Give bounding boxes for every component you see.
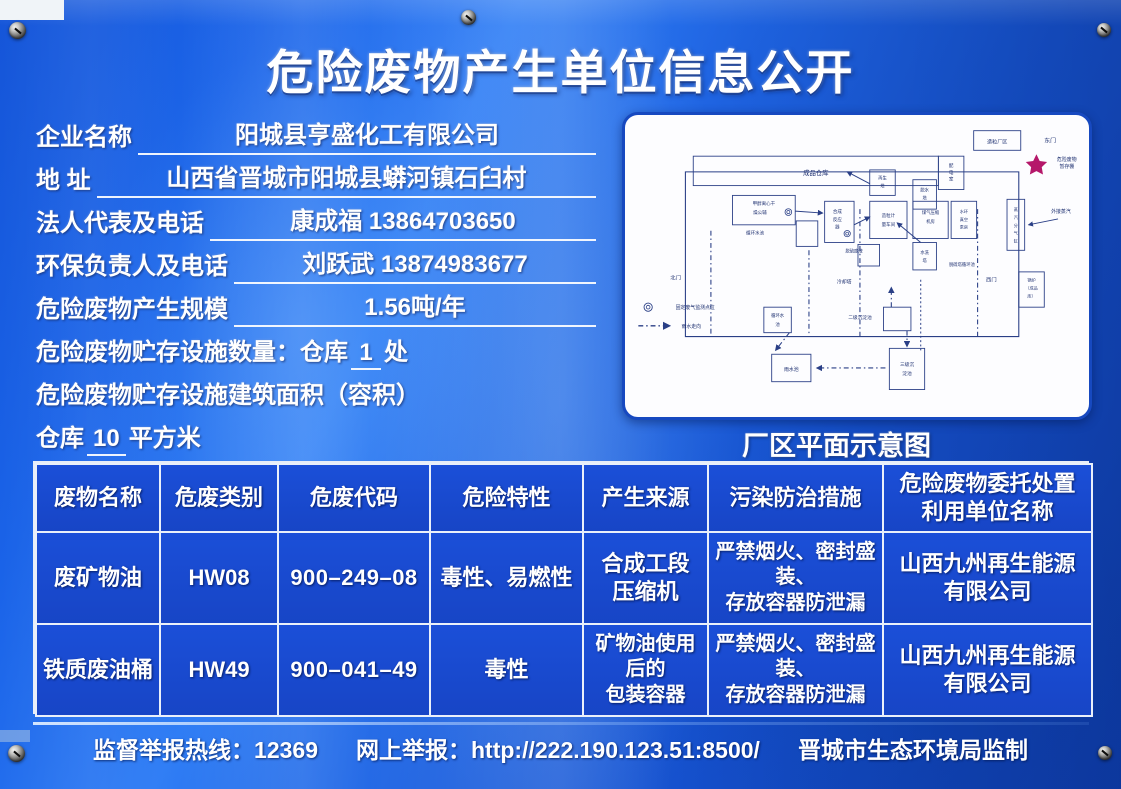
svg-text:固定废气监测点位: 固定废气监测点位	[676, 304, 715, 311]
info-value-company-name: 阳城县亨盛化工有限公司	[138, 115, 596, 155]
cell-control-line2: 存放容器防泄漏	[712, 683, 879, 709]
info-unit-storage-count: 处	[384, 332, 408, 370]
information-board: 危险废物产生单位信息公开 企业名称 阳城县亨盛化工有限公司 地 址 山西省晋城市…	[0, 0, 1121, 789]
cell-disposal-unit: 山西九州再生能源 有限公司	[883, 624, 1092, 716]
column-header-source: 产生来源	[583, 464, 708, 532]
svg-text:量车间: 量车间	[882, 221, 896, 228]
cell-waste-name: 废矿物油	[36, 532, 160, 624]
svg-text:器: 器	[835, 225, 840, 231]
svg-text:成品仓库: 成品仓库	[803, 168, 829, 177]
svg-text:煤气压缩: 煤气压缩	[922, 209, 940, 216]
info-label-legal-rep: 法人代表及电话	[36, 203, 204, 241]
cell-waste-category: HW08	[160, 532, 278, 624]
footer-online-report: 网上举报：http://222.190.123.51:8500/	[356, 731, 760, 765]
svg-text:循环水池: 循环水池	[746, 230, 764, 237]
mounting-screw-top-right	[1097, 23, 1111, 37]
table-row: 废矿物油 HW08 900–249–08 毒性、易燃性 合成工段 压缩机 严禁烟…	[36, 532, 1092, 624]
svg-text:电: 电	[949, 169, 954, 175]
info-value-address: 山西省晋城市阳城县蟒河镇石臼村	[97, 158, 596, 198]
svg-text:缸: 缸	[1014, 237, 1018, 243]
column-header-disposal-unit-line2: 利用单位名称	[887, 498, 1088, 526]
board-left-edge-strip	[0, 730, 30, 742]
svg-text:暂存棚: 暂存棚	[1059, 163, 1074, 170]
svg-text:汽: 汽	[1014, 214, 1018, 220]
cell-disposal-line2: 有限公司	[887, 670, 1088, 698]
column-header-hazard-property: 危险特性	[430, 464, 583, 532]
cell-waste-code: 900–249–08	[278, 532, 430, 624]
svg-text:循环水: 循环水	[771, 312, 785, 319]
info-row-legal-rep: 法人代表及电话 康成福 13864703650	[36, 198, 596, 241]
hazardous-waste-table: 废物名称 危废类别 危废代码 危险特性 产生来源 污染防治措施 危险废物委托处置…	[33, 461, 1089, 714]
column-header-waste-category: 危废类别	[160, 464, 278, 532]
cell-control-line1: 严禁烟火、密封盛装、	[712, 540, 879, 591]
company-info-block: 企业名称 阳城县亨盛化工有限公司 地 址 山西省晋城市阳城县蟒河镇石臼村 法人代…	[36, 112, 596, 456]
info-label-company-name: 企业名称	[36, 117, 132, 155]
column-header-waste-name: 废物名称	[36, 464, 160, 532]
info-label-storage-count: 危险废物贮存设施数量：仓库	[36, 332, 348, 370]
mounting-screw-top-left	[9, 22, 26, 39]
cell-disposal-line2: 有限公司	[887, 578, 1088, 606]
svg-text:气: 气	[1014, 230, 1018, 236]
mounting-screw-bottom-right	[1098, 746, 1112, 760]
info-value-waste-scale: 1.56吨/年	[234, 287, 596, 327]
cell-control-line2: 存放容器防泄漏	[712, 591, 879, 617]
mounting-screw-bottom-left	[8, 745, 25, 762]
svg-text:配: 配	[949, 163, 954, 169]
cell-control-measures: 严禁烟火、密封盛装、 存放容器防泄漏	[708, 532, 883, 624]
svg-text:库）: 库）	[1027, 292, 1035, 298]
footer-hotline: 监督举报热线：12369	[93, 731, 318, 765]
info-row-waste-scale: 危险废物产生规模 1.56吨/年	[36, 284, 596, 327]
info-value-ep-officer: 刘跃武 13874983677	[234, 244, 596, 284]
svg-text:机房: 机房	[926, 218, 935, 225]
cell-waste-category: HW49	[160, 624, 278, 716]
cell-source-line2: 压缩机	[587, 578, 704, 606]
cell-source: 合成工段 压缩机	[583, 532, 708, 624]
svg-text:东门: 东门	[1044, 136, 1056, 144]
svg-text:北门: 北门	[670, 274, 681, 282]
cell-hazard-property: 毒性、易燃性	[430, 532, 583, 624]
svg-text:室: 室	[949, 176, 954, 182]
info-label-ep-officer: 环保负责人及电话	[36, 246, 228, 284]
svg-text:冷却塔: 冷却塔	[837, 279, 852, 286]
svg-text:（成品: （成品	[1025, 285, 1037, 291]
info-value-storage-count: 1	[351, 339, 381, 370]
svg-text:淀池: 淀池	[902, 370, 912, 377]
cell-hazard-property: 毒性	[430, 624, 583, 716]
info-row-storage-area-label: 危险废物贮存设施建筑面积（容积）	[36, 370, 596, 413]
footer-authority: 晋城市生态环境局监制	[798, 731, 1028, 765]
svg-text:塔: 塔	[923, 194, 928, 201]
svg-text:再生: 再生	[878, 175, 887, 182]
svg-text:三级沉: 三级沉	[900, 361, 914, 368]
info-row-company-name: 企业名称 阳城县亨盛化工有限公司	[36, 112, 596, 155]
cell-waste-code: 900–041–49	[278, 624, 430, 716]
svg-text:蒸: 蒸	[1014, 206, 1018, 212]
info-label-warehouse: 仓库	[36, 418, 84, 456]
info-row-ep-officer: 环保负责人及电话 刘跃武 13874983677	[36, 241, 596, 284]
footer-bar: 监督举报热线：12369 网上举报：http://222.190.123.51:…	[0, 731, 1121, 765]
svg-text:造粒计: 造粒计	[882, 212, 896, 219]
cell-source: 矿物油使用后的 包装容器	[583, 624, 708, 716]
svg-text:真空: 真空	[960, 216, 968, 222]
page-title: 危险废物产生单位信息公开	[0, 34, 1121, 103]
cell-source-line1: 矿物油使用后的	[587, 632, 704, 683]
svg-text:水洗: 水洗	[920, 249, 929, 256]
svg-text:脱水: 脱水	[920, 186, 929, 193]
svg-text:造粒厂区: 造粒厂区	[987, 138, 1007, 145]
cell-disposal-line1: 山西九州再生能源	[887, 550, 1088, 578]
cell-disposal-line1: 山西九州再生能源	[887, 642, 1088, 670]
info-label-storage-area: 危险废物贮存设施建筑面积（容积）	[36, 375, 420, 413]
info-row-address: 地 址 山西省晋城市阳城县蟒河镇石臼村	[36, 155, 596, 198]
cell-control-line1: 严禁烟火、密封盛装、	[712, 632, 879, 683]
site-plan-diagram: 成品仓库 配 电 室 造粒厂区 东门 危险废物 暂存棚 甲醇离心干 燥公辅	[622, 112, 1092, 420]
svg-text:脱硫塔循环池: 脱硫塔循环池	[949, 261, 975, 268]
svg-text:反应: 反应	[833, 216, 842, 223]
column-header-disposal-unit: 危险废物委托处置 利用单位名称	[883, 464, 1092, 532]
svg-text:甲醇离心干: 甲醇离心干	[753, 200, 776, 207]
column-header-control-measures: 污染防治措施	[708, 464, 883, 532]
svg-text:脱硫废液: 脱硫废液	[845, 247, 863, 254]
svg-text:锅炉: 锅炉	[1027, 277, 1035, 283]
svg-text:雨水池: 雨水池	[784, 366, 799, 373]
svg-text:池: 池	[775, 321, 780, 327]
svg-text:泵房: 泵房	[960, 224, 968, 230]
cell-control-measures: 严禁烟火、密封盛装、 存放容器防泄漏	[708, 624, 883, 716]
table-row: 铁质废油桶 HW49 900–041–49 毒性 矿物油使用后的 包装容器 严禁…	[36, 624, 1092, 716]
cell-waste-name: 铁质废油桶	[36, 624, 160, 716]
svg-text:外接蒸汽: 外接蒸汽	[1051, 208, 1071, 215]
svg-text:分: 分	[1014, 222, 1018, 228]
footer-divider	[33, 722, 1089, 725]
svg-text:合成: 合成	[833, 208, 842, 215]
column-header-disposal-unit-line1: 危险废物委托处置	[887, 470, 1088, 498]
cell-source-line2: 包装容器	[587, 683, 704, 709]
svg-text:燥公辅: 燥公辅	[753, 209, 767, 216]
info-label-address: 地 址	[36, 160, 91, 198]
cell-source-line1: 合成工段	[587, 550, 704, 578]
svg-text:塔: 塔	[880, 183, 885, 190]
column-header-waste-code: 危废代码	[278, 464, 430, 532]
board-top-edge-strip	[0, 0, 64, 20]
info-row-storage-count: 危险废物贮存设施数量：仓库 1 处	[36, 327, 596, 370]
cell-disposal-unit: 山西九州再生能源 有限公司	[883, 532, 1092, 624]
svg-text:危险废物: 危险废物	[1057, 156, 1077, 163]
info-value-warehouse-area: 10	[87, 425, 126, 456]
info-row-warehouse-area: 仓库 10 平方米	[36, 413, 596, 456]
info-label-waste-scale: 危险废物产生规模	[36, 289, 228, 327]
svg-text:水环: 水环	[960, 208, 968, 214]
svg-text:雨水走向: 雨水走向	[682, 323, 702, 330]
info-unit-warehouse-area: 平方米	[129, 418, 201, 456]
svg-text:塔: 塔	[923, 257, 928, 264]
table-header-row: 废物名称 危废类别 危废代码 危险特性 产生来源 污染防治措施 危险废物委托处置…	[36, 464, 1092, 532]
site-plan-caption: 厂区平面示意图	[742, 424, 931, 463]
info-value-legal-rep: 康成福 13864703650	[210, 201, 596, 241]
svg-text:西门: 西门	[986, 276, 997, 284]
mounting-screw-top-middle	[461, 10, 476, 25]
